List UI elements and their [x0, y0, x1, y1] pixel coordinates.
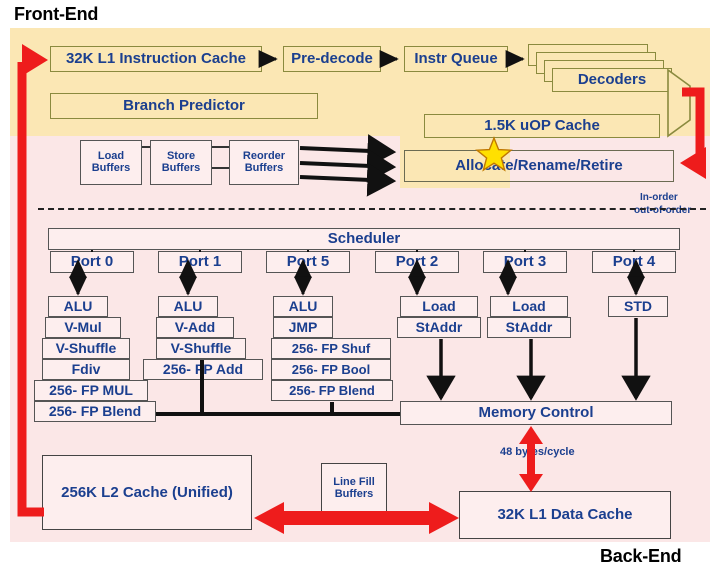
store-buffers-label-line2: Buffers	[162, 163, 201, 175]
port0-unit-256-fp-blend[interactable]: 256- FP Blend	[34, 401, 156, 422]
pre-decode-box[interactable]: Pre-decode	[283, 46, 381, 72]
bandwidth-note: 48 bytes/cycle	[500, 446, 575, 458]
line-fill-buffers-label-line2: Buffers	[335, 489, 374, 501]
port0-unit-v-mul[interactable]: V-Mul	[45, 317, 121, 338]
port2-unit-load[interactable]: Load	[400, 296, 478, 317]
load-buffers-label-line2: Buffers	[92, 163, 131, 175]
port3-unit-staddr[interactable]: StAddr	[487, 317, 571, 338]
port5-unit-256-fp-bool[interactable]: 256- FP Bool	[271, 359, 391, 380]
port5-unit-alu[interactable]: ALU	[273, 296, 333, 317]
reorder-buffers-label-line2: Buffers	[245, 163, 284, 175]
port-0-box[interactable]: Port 0	[50, 251, 134, 273]
port1-unit-alu[interactable]: ALU	[158, 296, 218, 317]
allocate-rename-retire-box[interactable]: Allocate/Rename/Retire	[404, 150, 674, 182]
instr-queue-box[interactable]: Instr Queue	[404, 46, 508, 72]
in-order-out-of-order-divider	[38, 208, 706, 210]
load-buffers-box[interactable]: Load Buffers	[80, 140, 142, 185]
memory-control-box[interactable]: Memory Control	[400, 401, 672, 425]
port1-unit-v-add[interactable]: V-Add	[156, 317, 234, 338]
branch-predictor-box[interactable]: Branch Predictor	[50, 93, 318, 119]
port-5-box[interactable]: Port 5	[266, 251, 350, 273]
load-buffers-label-line1: Load	[98, 151, 124, 163]
port-3-box[interactable]: Port 3	[483, 251, 567, 273]
line-fill-buffers-box[interactable]: Line Fill Buffers	[321, 463, 387, 515]
l2-cache-box[interactable]: 256K L2 Cache (Unified)	[42, 455, 252, 530]
port1-unit-v-shuffle[interactable]: V-Shuffle	[156, 338, 246, 359]
port-4-box[interactable]: Port 4	[592, 251, 676, 273]
port5-unit-jmp[interactable]: JMP	[273, 317, 333, 338]
port5-unit-256-fp-blend[interactable]: 256- FP Blend	[271, 380, 393, 401]
port0-unit-alu[interactable]: ALU	[48, 296, 108, 317]
reorder-buffers-box[interactable]: Reorder Buffers	[229, 140, 299, 185]
port0-unit-v-shuffle[interactable]: V-Shuffle	[42, 338, 130, 359]
port-2-box[interactable]: Port 2	[375, 251, 459, 273]
port5-unit-256-fp-shuf[interactable]: 256- FP Shuf	[271, 338, 391, 359]
scheduler-box[interactable]: Scheduler	[48, 228, 680, 250]
port0-unit-fdiv[interactable]: Fdiv	[42, 359, 130, 380]
out-of-order-label: out-of-order	[634, 205, 691, 216]
back-end-label: Back-End	[600, 546, 681, 567]
l1-data-cache-box[interactable]: 32K L1 Data Cache	[459, 491, 671, 539]
front-end-label: Front-End	[14, 4, 98, 25]
port0-unit-256-fp-mul[interactable]: 256- FP MUL	[34, 380, 148, 401]
port1-unit-256-fp-add[interactable]: 256- FP Add	[143, 359, 263, 380]
store-buffers-box[interactable]: Store Buffers	[150, 140, 212, 185]
in-order-label: In-order	[640, 192, 678, 203]
l1-instruction-cache-box[interactable]: 32K L1 Instruction Cache	[50, 46, 262, 72]
uop-cache-box[interactable]: 1.5K uOP Cache	[424, 114, 660, 138]
microarchitecture-diagram: Front-End Back-End 32K L1 Instruction Ca…	[0, 0, 720, 580]
port-1-box[interactable]: Port 1	[158, 251, 242, 273]
port4-unit-std[interactable]: STD	[608, 296, 668, 317]
store-buffers-label-line1: Store	[167, 151, 195, 163]
port2-unit-staddr[interactable]: StAddr	[397, 317, 481, 338]
reorder-buffers-label-line1: Reorder	[243, 151, 285, 163]
decoders-box[interactable]: Decoders	[552, 68, 672, 92]
port3-unit-load[interactable]: Load	[490, 296, 568, 317]
